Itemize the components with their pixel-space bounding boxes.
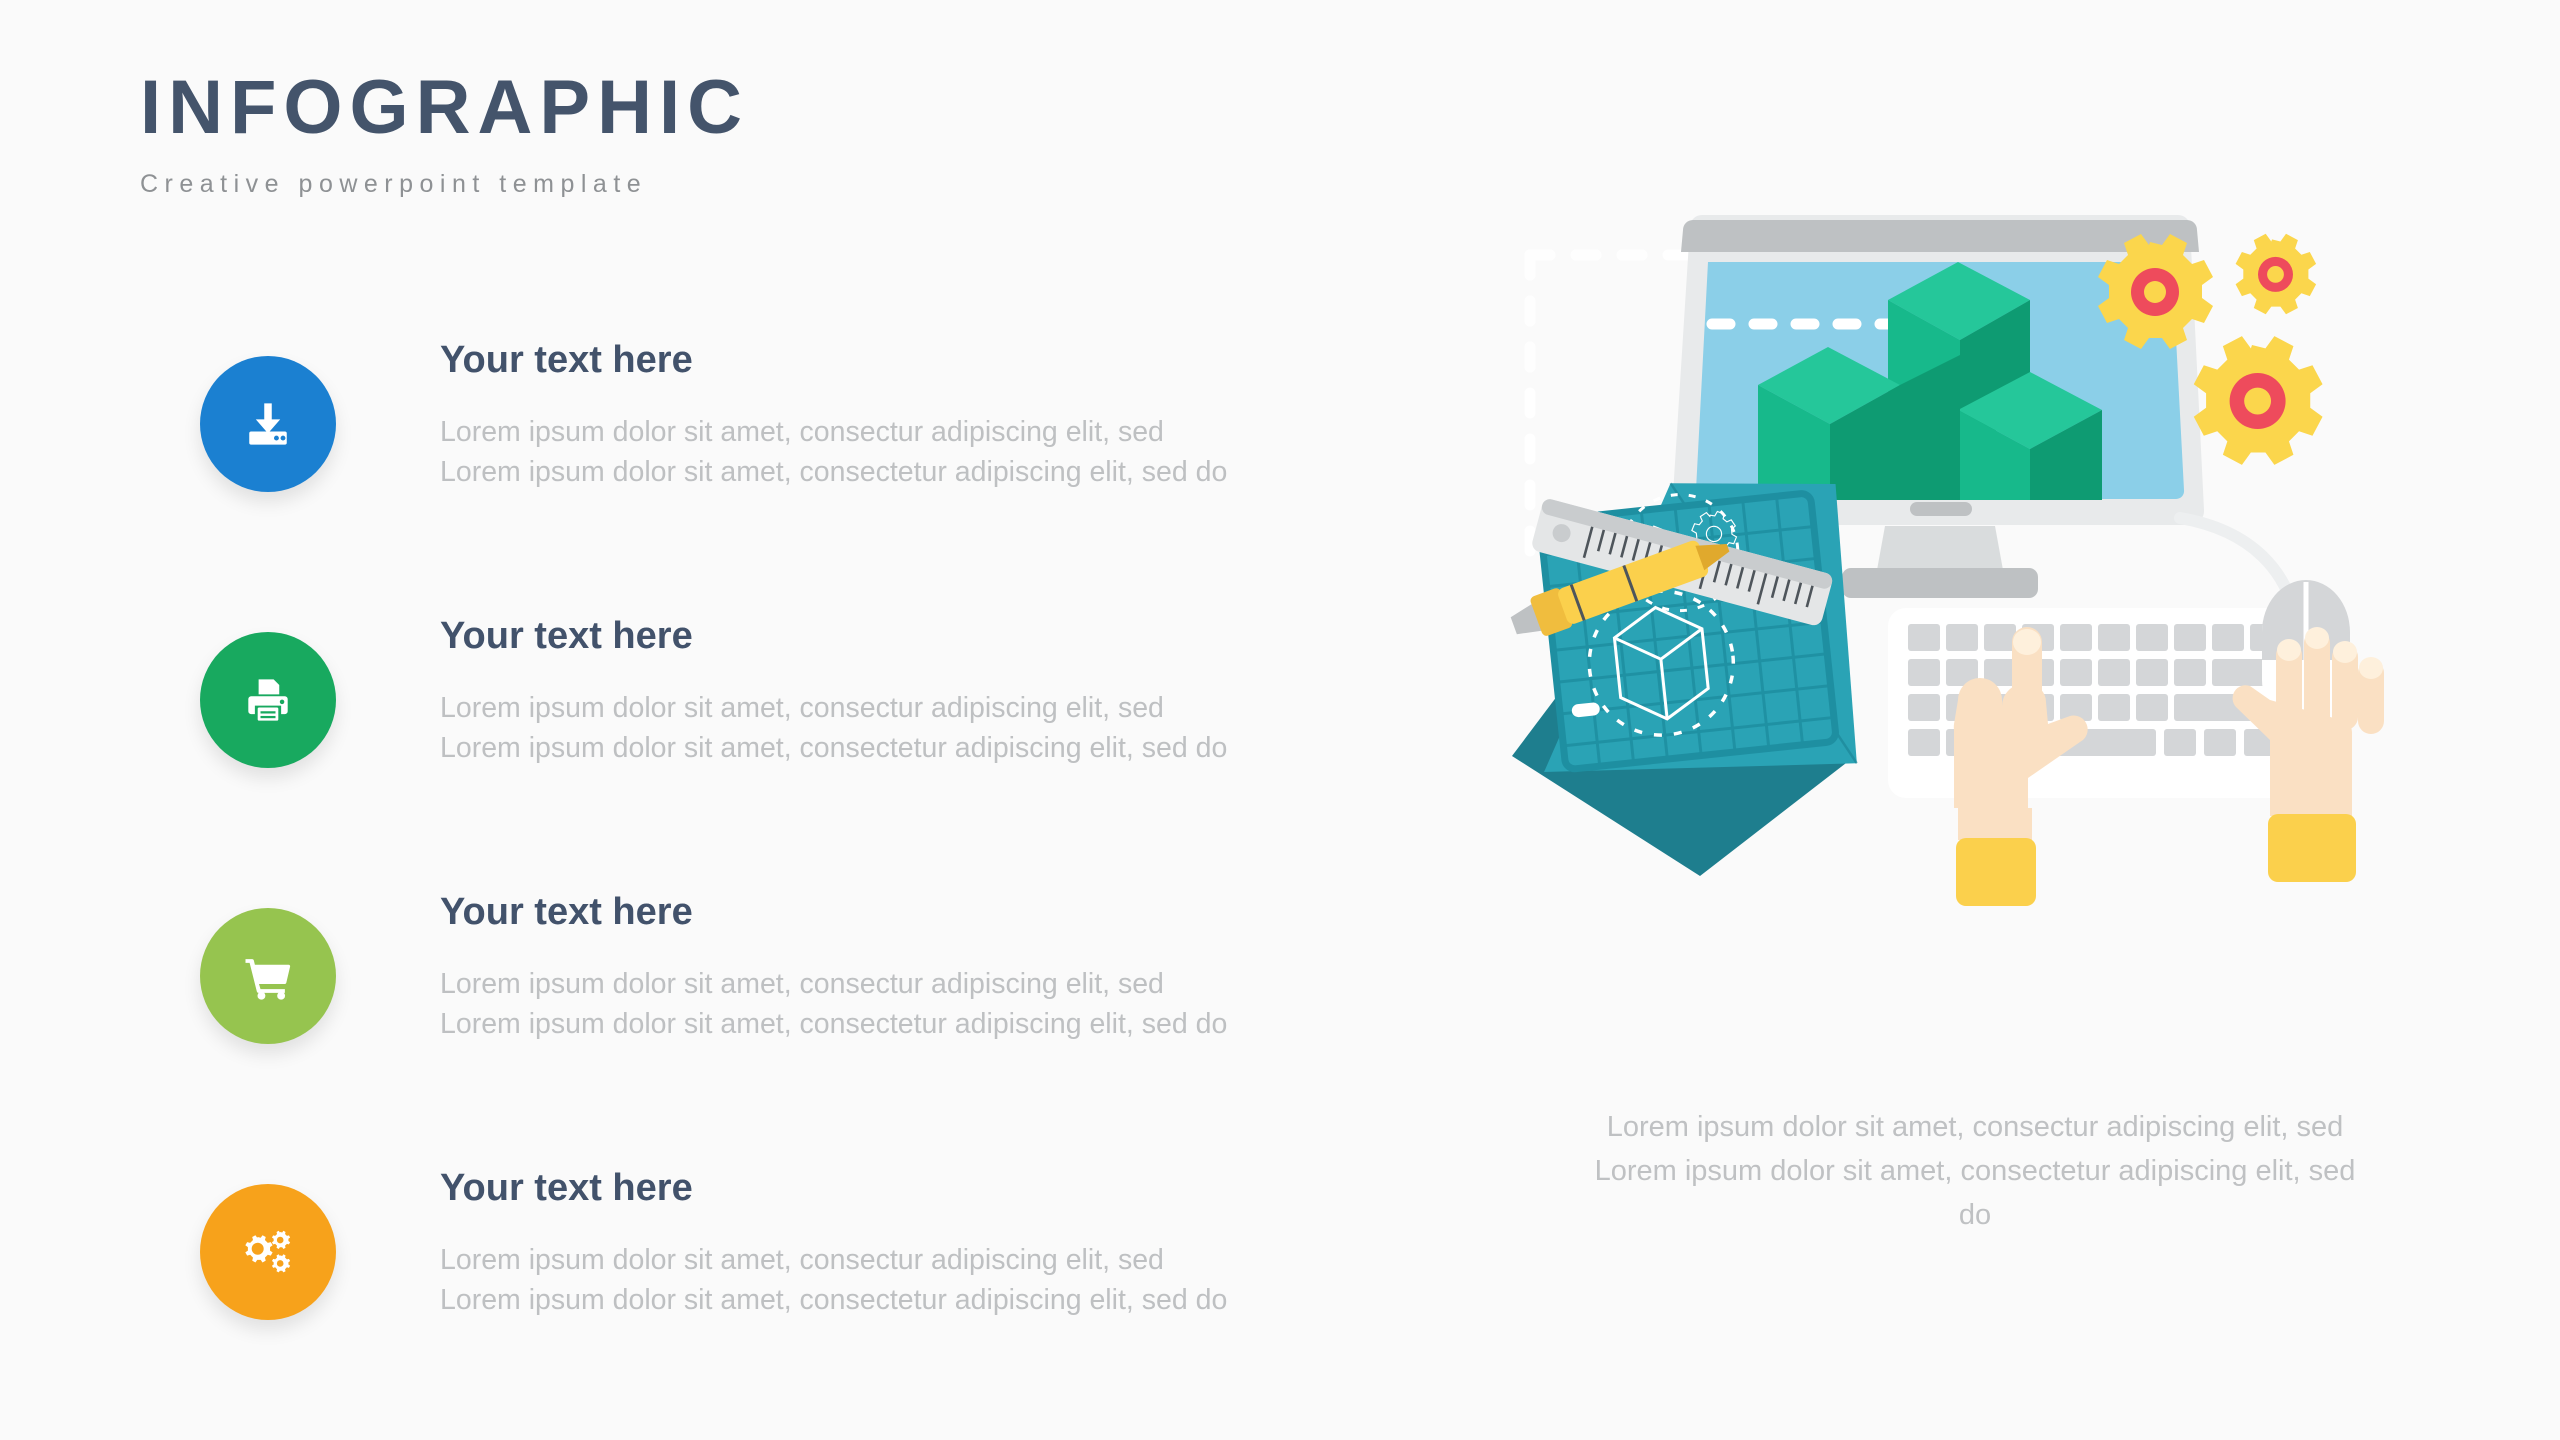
- feature-row[interactable]: Your text here Lorem ipsum dolor sit ame…: [200, 616, 1460, 892]
- header: INFOGRAPHIC Creative powerpoint template: [140, 70, 749, 197]
- feature-list: Your text here Lorem ipsum dolor sit ame…: [200, 340, 1460, 1440]
- feature-icon-badge-settings[interactable]: [200, 1184, 336, 1320]
- gears-settings-icon: [238, 1222, 298, 1282]
- feature-body: Your text here Lorem ipsum dolor sit ame…: [440, 1168, 1460, 1321]
- feature-row[interactable]: Your text here Lorem ipsum dolor sit ame…: [200, 892, 1460, 1168]
- feature-line-2: Lorem ipsum dolor sit amet, consectetur …: [440, 728, 1460, 768]
- 3d-design-workstation-illustration: [1490, 200, 2430, 920]
- page-title: INFOGRAPHIC: [140, 70, 749, 146]
- feature-row[interactable]: Your text here Lorem ipsum dolor sit ame…: [200, 1168, 1460, 1440]
- feature-body: Your text here Lorem ipsum dolor sit ame…: [440, 340, 1460, 493]
- shopping-cart-icon: [238, 946, 298, 1006]
- feature-line-1: Lorem ipsum dolor sit amet, consectur ad…: [440, 964, 1460, 1004]
- feature-title: Your text here: [440, 892, 1460, 934]
- feature-icon-badge-download[interactable]: [200, 356, 336, 492]
- printer-icon: [238, 670, 298, 730]
- feature-line-1: Lorem ipsum dolor sit amet, consectur ad…: [440, 688, 1460, 728]
- feature-body: Your text here Lorem ipsum dolor sit ame…: [440, 616, 1460, 769]
- feature-title: Your text here: [440, 1168, 1460, 1210]
- feature-line-2: Lorem ipsum dolor sit amet, consectetur …: [440, 1280, 1460, 1320]
- feature-icon-badge-printer[interactable]: [200, 632, 336, 768]
- feature-line-1: Lorem ipsum dolor sit amet, consectur ad…: [440, 1240, 1460, 1280]
- feature-line-1: Lorem ipsum dolor sit amet, consectur ad…: [440, 412, 1460, 452]
- feature-row[interactable]: Your text here Lorem ipsum dolor sit ame…: [200, 340, 1460, 616]
- download-icon: [238, 394, 298, 454]
- feature-icon-badge-cart[interactable]: [200, 908, 336, 1044]
- illustration-caption: Lorem ipsum dolor sit amet, consectur ad…: [1580, 1105, 2370, 1237]
- page-subtitle: Creative powerpoint template: [140, 172, 749, 197]
- infographic-slide: INFOGRAPHIC Creative powerpoint template…: [0, 0, 2560, 1440]
- feature-body: Your text here Lorem ipsum dolor sit ame…: [440, 892, 1460, 1045]
- feature-title: Your text here: [440, 340, 1460, 382]
- feature-line-2: Lorem ipsum dolor sit amet, consectetur …: [440, 452, 1460, 492]
- feature-title: Your text here: [440, 616, 1460, 658]
- feature-line-2: Lorem ipsum dolor sit amet, consectetur …: [440, 1004, 1460, 1044]
